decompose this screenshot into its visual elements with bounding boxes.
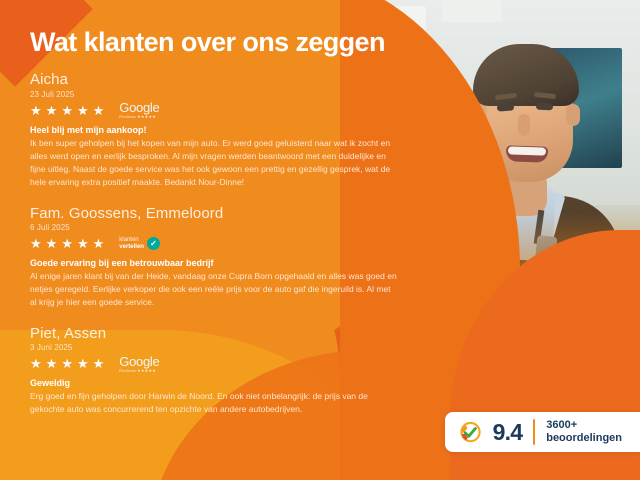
reviewer-name: Fam. Goossens, Emmeloord: [30, 206, 410, 223]
google-wordmark-text: Google: [119, 100, 159, 115]
star-icon: ★: [46, 357, 59, 370]
google-wordmark-text: Google: [119, 354, 159, 369]
checkmark-circle-icon: ✓: [147, 237, 160, 250]
star-rating: ★ ★ ★ ★ ★: [30, 104, 105, 117]
review-banner: VDH Wat klanten over ons zeggen Aicha 23…: [0, 0, 640, 480]
rating-count-label: beoordelingen: [546, 432, 622, 445]
rating-count-block: 3600+ beoordelingen: [546, 419, 622, 445]
review-title: Goede ervaring bij een betrouwbaar bedri…: [30, 258, 410, 268]
review-meta: ★ ★ ★ ★ ★ klanten vertellen ✓: [30, 235, 410, 252]
google-reviews-sublabel: Reviews ★★★★★: [119, 369, 159, 373]
star-icon: ★: [77, 237, 90, 250]
star-icon: ★: [30, 104, 43, 117]
rating-score: 9.4: [493, 421, 523, 444]
reviews-content: Wat klanten over ons zeggen Aicha 23 Jul…: [30, 28, 410, 432]
star-icon: ★: [61, 357, 74, 370]
rating-count: 3600+: [546, 419, 622, 432]
google-reviews-logo: Google Reviews ★★★★★: [119, 101, 159, 119]
star-icon: ★: [93, 237, 106, 250]
rating-badge[interactable]: 9.4 3600+ beoordelingen: [445, 412, 640, 452]
klantenvertellen-shield-icon: [459, 421, 482, 444]
page-title: Wat klanten over ons zeggen: [30, 28, 410, 56]
klantenvertellen-wordmark: klanten vertellen: [119, 237, 144, 250]
star-icon: ★: [93, 357, 106, 370]
star-icon: ★: [61, 237, 74, 250]
star-icon: ★: [93, 104, 106, 117]
klantenvertellen-line-2: vertellen: [119, 244, 144, 250]
star-icon: ★: [77, 104, 90, 117]
review-title: Geweldig: [30, 378, 410, 388]
star-icon: ★: [77, 357, 90, 370]
star-icon: ★: [46, 104, 59, 117]
review-title: Heel blij met mijn aankoop!: [30, 125, 410, 135]
review-card: Fam. Goossens, Emmeloord 6 Juli 2025 ★ ★…: [30, 206, 410, 310]
star-rating: ★ ★ ★ ★ ★: [30, 357, 105, 370]
review-date: 23 Juli 2025: [30, 90, 410, 99]
star-icon: ★: [61, 104, 74, 117]
star-icon: ★: [30, 357, 43, 370]
review-body: Ik ben super geholpen bij het kopen van …: [30, 137, 398, 190]
star-icon: ★: [46, 237, 59, 250]
reviewer-name: Piet, Assen: [30, 326, 410, 343]
review-card: Piet, Assen 3 Juni 2025 ★ ★ ★ ★ ★ Google…: [30, 326, 410, 417]
star-rating: ★ ★ ★ ★ ★: [30, 237, 105, 250]
google-wordmark: Google: [119, 355, 159, 368]
reviewer-name: Aicha: [30, 72, 410, 89]
review-meta: ★ ★ ★ ★ ★ Google Reviews ★★★★★: [30, 355, 410, 372]
review-body: Erg goed en fijn geholpen door Harwin de…: [30, 390, 398, 416]
google-reviews-logo: Google Reviews ★★★★★: [119, 355, 159, 373]
google-reviews-sublabel: Reviews ★★★★★: [119, 115, 159, 119]
review-date: 6 Juli 2025: [30, 223, 410, 232]
review-meta: ★ ★ ★ ★ ★ Google Reviews ★★★★★: [30, 102, 410, 119]
star-icon: ★: [30, 237, 43, 250]
google-wordmark: Google: [119, 101, 159, 114]
review-date: 3 Juni 2025: [30, 343, 410, 352]
review-card: Aicha 23 Juli 2025 ★ ★ ★ ★ ★ Google Revi…: [30, 72, 410, 189]
klantenvertellen-logo: klanten vertellen ✓: [119, 237, 160, 250]
rating-divider: [533, 419, 535, 445]
review-body: Al enige jaren klant bij van der Heide, …: [30, 270, 398, 310]
